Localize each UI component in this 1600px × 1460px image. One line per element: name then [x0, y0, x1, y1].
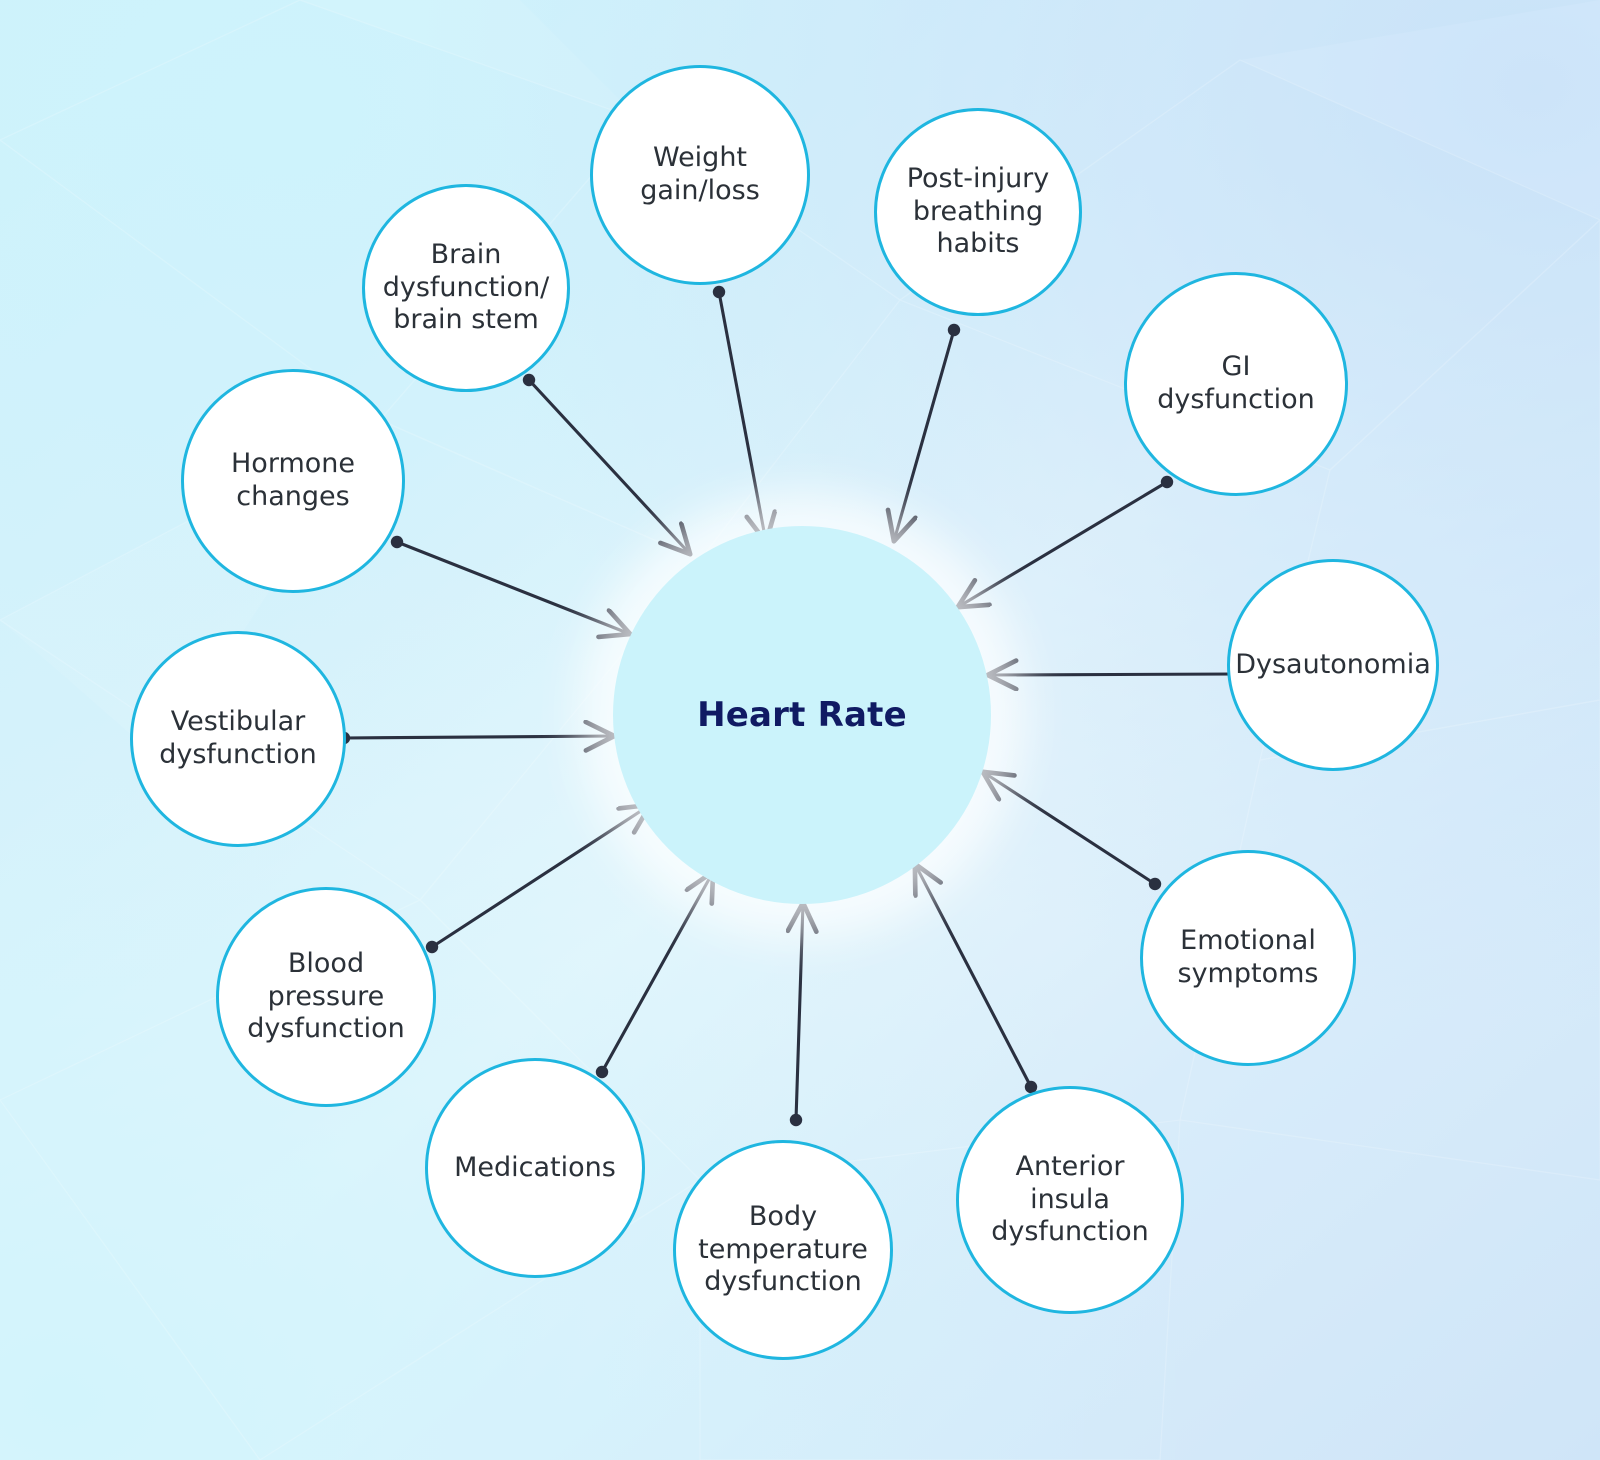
connector-meds	[602, 872, 713, 1072]
node-meds[interactable]: Medications	[425, 1058, 645, 1278]
node-hormone[interactable]: Hormone changes	[181, 369, 405, 593]
node-label-gi: GI dysfunction	[1147, 351, 1324, 417]
connector-dot-emotional	[1149, 878, 1161, 890]
connector-dot-meds	[596, 1066, 608, 1078]
connector-hormone	[397, 542, 630, 634]
node-label-bodytemp: Body temperature dysfunction	[688, 1201, 878, 1300]
connector-dot-gi	[1161, 476, 1173, 488]
node-emotional[interactable]: Emotional symptoms	[1140, 850, 1356, 1066]
node-label-emotional: Emotional symptoms	[1168, 925, 1329, 991]
connector-weight	[719, 292, 766, 542]
connector-bloodpr	[432, 805, 650, 947]
connector-dot-bloodpr	[426, 941, 438, 953]
connector-dot-brain	[523, 374, 535, 386]
node-bodytemp[interactable]: Body temperature dysfunction	[673, 1140, 893, 1360]
node-vestib[interactable]: Vestibular dysfunction	[130, 631, 346, 847]
hub-heart-rate[interactable]: Heart Rate	[613, 526, 991, 904]
connector-dot-weight	[713, 286, 725, 298]
hub-label: Heart Rate	[697, 695, 907, 735]
node-label-brain: Brain dysfunction/ brain stem	[373, 239, 560, 338]
node-weight[interactable]: Weight gain/loss	[590, 65, 810, 285]
connector-breathing	[894, 330, 954, 541]
node-label-vestib: Vestibular dysfunction	[149, 706, 326, 772]
connector-emotional	[983, 772, 1155, 884]
node-label-insula: Anterior insula dysfunction	[981, 1151, 1158, 1250]
connector-brain	[529, 380, 690, 554]
node-breathing[interactable]: Post-injury breathing habits	[874, 108, 1082, 316]
connector-dot-hormone	[391, 536, 403, 548]
connector-bodytemp	[796, 903, 803, 1120]
node-label-meds: Medications	[444, 1152, 626, 1185]
connector-gi	[958, 482, 1167, 607]
diagram-canvas: Heart Rate Brain dysfunction/ brain stem…	[0, 0, 1600, 1460]
node-label-dysaut: Dysautonomia	[1225, 649, 1441, 682]
node-bloodpr[interactable]: Blood pressure dysfunction	[216, 887, 436, 1107]
node-gi[interactable]: GI dysfunction	[1124, 272, 1348, 496]
connector-vestib	[344, 736, 614, 738]
connector-dot-breathing	[948, 324, 960, 336]
node-label-bloodpr: Blood pressure dysfunction	[237, 948, 414, 1047]
connector-insula	[915, 864, 1031, 1087]
connector-dysaut	[988, 674, 1237, 675]
node-label-hormone: Hormone changes	[221, 448, 365, 514]
node-label-breathing: Post-injury breathing habits	[897, 163, 1060, 262]
connector-dot-bodytemp	[790, 1114, 802, 1126]
node-brain[interactable]: Brain dysfunction/ brain stem	[362, 184, 570, 392]
node-insula[interactable]: Anterior insula dysfunction	[956, 1086, 1184, 1314]
node-dysaut[interactable]: Dysautonomia	[1227, 559, 1439, 771]
node-label-weight: Weight gain/loss	[630, 142, 770, 208]
